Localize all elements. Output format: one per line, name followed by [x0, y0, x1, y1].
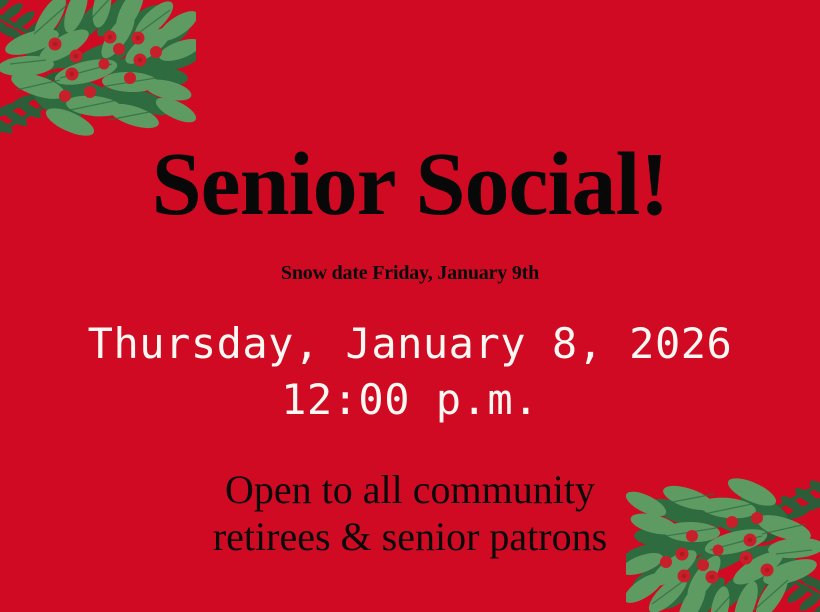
fern-fronds-dark — [0, 0, 88, 136]
snow-date-text: Snow date Friday, January 9th — [0, 262, 820, 284]
event-time-text: 12:00 p.m. — [0, 372, 820, 428]
title-block: Senior Social! — [0, 140, 820, 230]
audience-block: Open to all community retirees & senior … — [0, 466, 820, 560]
leaf-sprays-dark-green — [25, 0, 196, 127]
audience-text-line-2: retirees & senior patrons — [0, 513, 820, 560]
leaf-sprays-light-green — [0, 0, 196, 136]
page-title: Senior Social! — [0, 140, 820, 230]
holiday-event-poster: Senior Social! Snow date Friday, January… — [0, 0, 820, 612]
holly-foliage-decoration-top-left — [0, 0, 196, 136]
snow-date-block: Snow date Friday, January 9th — [0, 262, 820, 284]
event-date-text: Thursday, January 8, 2026 — [0, 316, 820, 372]
berries — [49, 31, 163, 103]
event-datetime-block: Thursday, January 8, 2026 12:00 p.m. — [0, 316, 820, 428]
audience-text-line-1: Open to all community — [0, 466, 820, 513]
